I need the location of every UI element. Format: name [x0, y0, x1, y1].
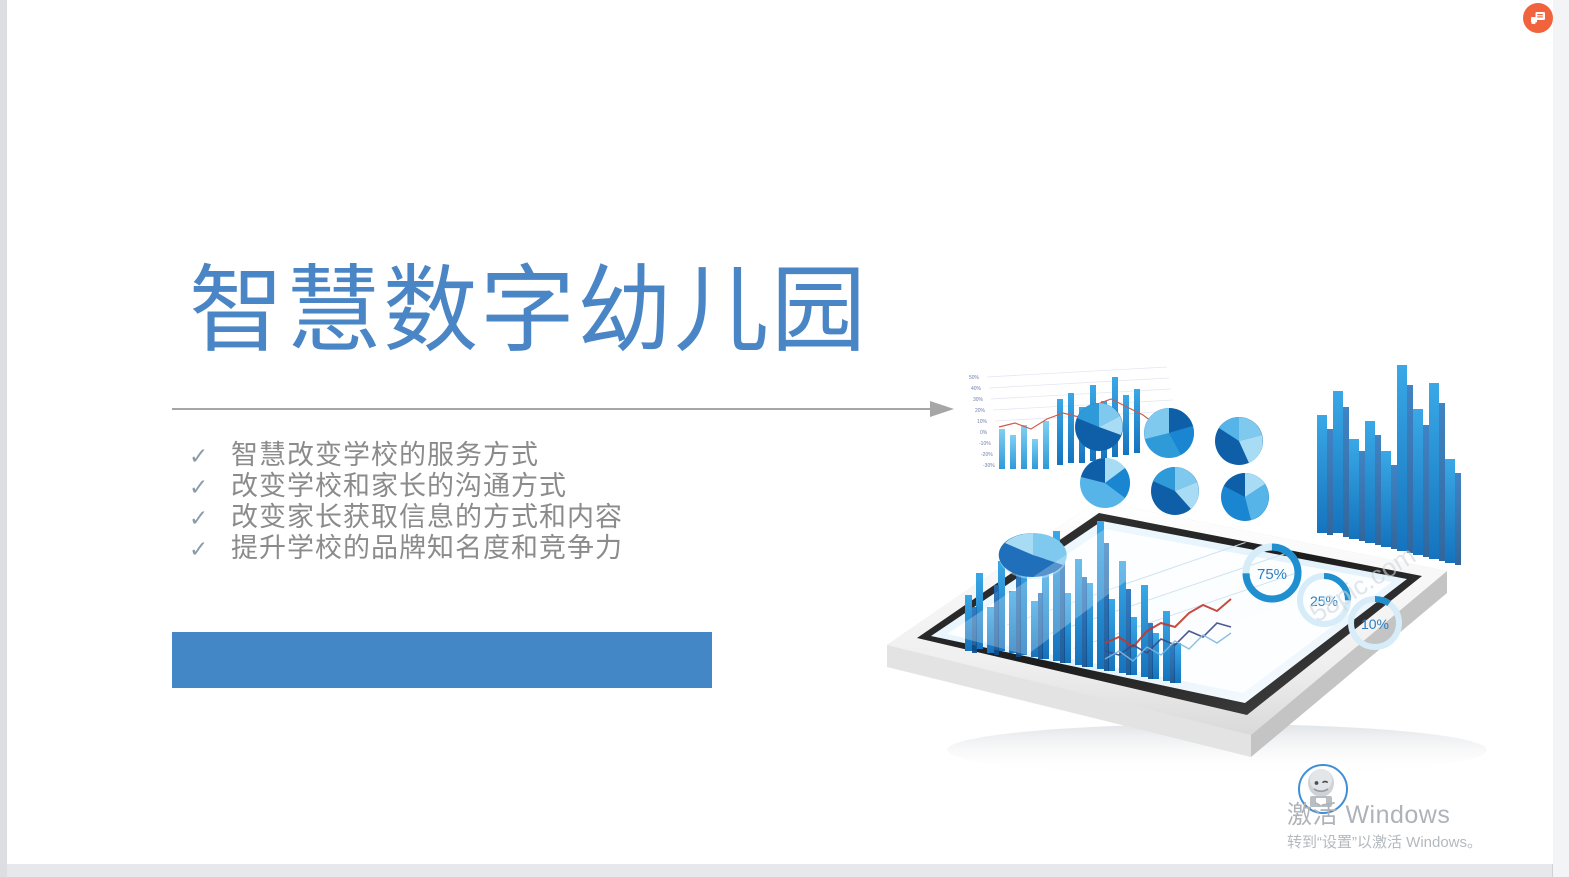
list-item[interactable]: ✓ 改变家长获取信息的方式和内容	[175, 502, 735, 533]
divider-line	[172, 408, 934, 410]
list-item-label: 改变家长获取信息的方式和内容	[231, 502, 623, 533]
slide-canvas[interactable]: 智慧数字幼儿园 ✓ 智慧改变学校的服务方式 ✓ 改变学校和家长的沟通方式 ✓ 改…	[7, 0, 1553, 864]
right-scroll-gutter[interactable]	[1552, 0, 1569, 877]
svg-text:20%: 20%	[975, 408, 986, 414]
tablet-analytics-illustration: 75% 25% 10% 50%	[847, 355, 1553, 775]
svg-text:-10%: -10%	[979, 441, 991, 447]
present-share-badge[interactable]	[1523, 3, 1553, 33]
content-placeholder-bar[interactable]	[172, 632, 712, 688]
watermark-title: 激活 Windows	[1287, 800, 1517, 830]
left-gutter	[0, 0, 7, 877]
svg-text:30%: 30%	[973, 397, 984, 403]
svg-text:10%: 10%	[977, 419, 988, 425]
list-item-label: 提升学校的品牌知名度和竞争力	[231, 533, 623, 564]
arrow-divider	[172, 401, 954, 417]
screen-share-icon	[1529, 9, 1547, 27]
svg-text:50%: 50%	[969, 375, 980, 381]
list-item-label: 改变学校和家长的沟通方式	[231, 471, 567, 502]
svg-text:-30%: -30%	[983, 463, 995, 469]
list-item[interactable]: ✓ 智慧改变学校的服务方式	[175, 440, 735, 471]
check-icon: ✓	[175, 504, 231, 535]
page-title[interactable]: 智慧数字幼儿园	[189, 258, 868, 364]
list-item[interactable]: ✓ 提升学校的品牌知名度和竞争力	[175, 533, 735, 564]
list-item[interactable]: ✓ 改变学校和家长的沟通方式	[175, 471, 735, 502]
svg-text:10%: 10%	[1361, 616, 1389, 632]
svg-text:-20%: -20%	[981, 452, 993, 458]
svg-text:75%: 75%	[1257, 566, 1287, 583]
check-icon: ✓	[175, 473, 231, 504]
windows-activation-watermark: 激活 Windows 转到“设置”以激活 Windows。	[1287, 800, 1517, 854]
watermark-subtitle: 转到“设置”以激活 Windows。	[1287, 832, 1517, 854]
list-item-label: 智慧改变学校的服务方式	[231, 440, 539, 471]
check-icon: ✓	[175, 535, 231, 566]
svg-text:40%: 40%	[971, 386, 982, 392]
app-viewport: 智慧数字幼儿园 ✓ 智慧改变学校的服务方式 ✓ 改变学校和家长的沟通方式 ✓ 改…	[0, 0, 1569, 877]
svg-text:0%: 0%	[980, 430, 988, 436]
bullet-list: ✓ 智慧改变学校的服务方式 ✓ 改变学校和家长的沟通方式 ✓ 改变家长获取信息的…	[175, 440, 735, 564]
check-icon: ✓	[175, 442, 231, 473]
